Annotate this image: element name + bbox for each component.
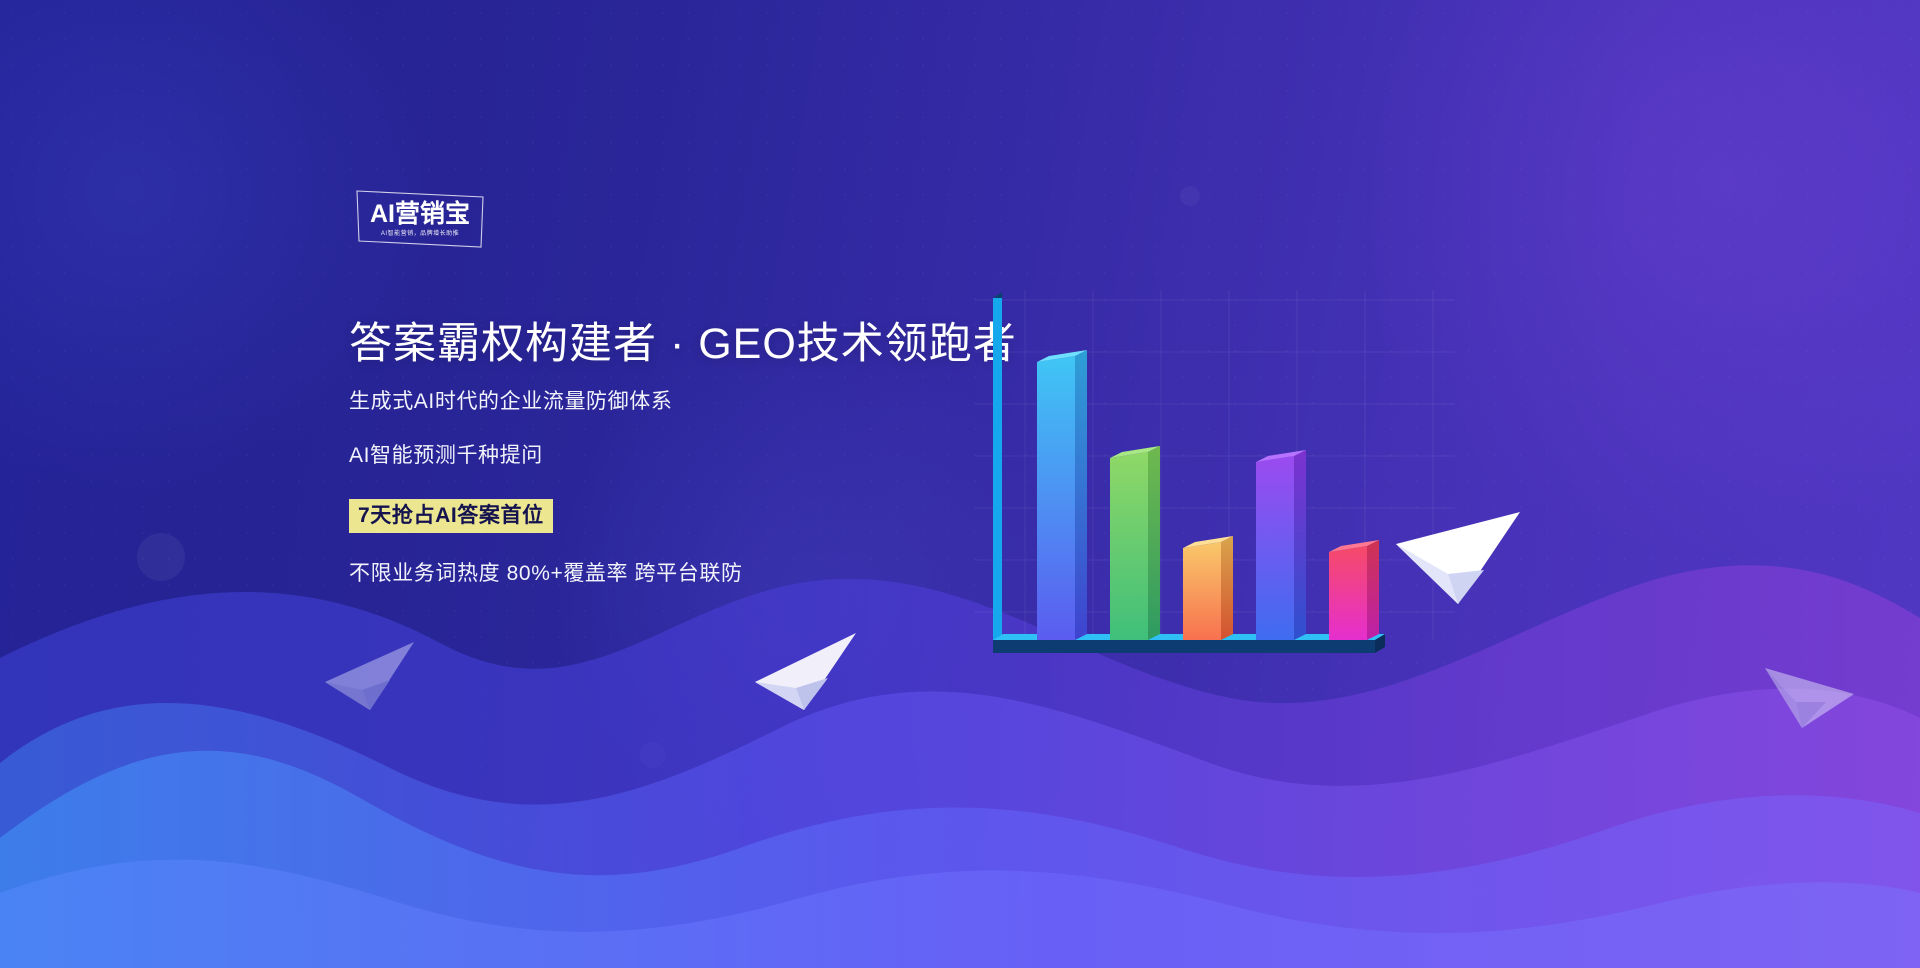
wave-layer-4 <box>0 860 1920 968</box>
chart-y-axis <box>993 292 1002 640</box>
chart-bar <box>1183 536 1233 640</box>
logo-wordmark: AI营销宝 <box>370 202 470 227</box>
page-title: 答案霸权构建者 · GEO技术领跑者 <box>349 320 1069 369</box>
bar-chart-illustration <box>975 290 1455 660</box>
hero-subline-4: 不限业务词热度 80%+覆盖率 跨平台联防 <box>349 563 1069 584</box>
wave-layer-3 <box>0 751 1920 968</box>
paper-plane-icon <box>1762 658 1860 734</box>
wave-layer-2 <box>0 689 1920 968</box>
hero-highlight-badge: 7天抢占AI答案首位 <box>349 499 553 533</box>
wave-layer-1 <box>0 565 1920 968</box>
paper-plane-icon <box>752 630 862 714</box>
hero-copy: 答案霸权构建者 · GEO技术领跑者 生成式AI时代的企业流量防御体系 AI智能… <box>349 320 1069 584</box>
hero-subline-2: AI智能预测千种提问 <box>349 445 1069 466</box>
hero-subline-1: 生成式AI时代的企业流量防御体系 <box>349 391 1069 412</box>
decor-circle <box>137 533 185 581</box>
chart-bar <box>1256 450 1306 640</box>
chart-bar <box>1110 446 1160 640</box>
chart-bar <box>1037 350 1087 640</box>
paper-plane-icon <box>322 638 420 714</box>
logo-tagline: AI智能营销，品牌增长助推 <box>381 231 459 237</box>
decor-circle <box>640 742 666 768</box>
hero-banner: AI营销宝 AI智能营销，品牌增长助推 答案霸权构建者 · GEO技术领跑者 生… <box>0 0 1920 968</box>
decor-circle <box>1738 872 1774 908</box>
chart-bar <box>1329 540 1379 640</box>
wave-decoration <box>0 548 1920 968</box>
decor-circle <box>1180 186 1200 206</box>
brand-logo[interactable]: AI营销宝 AI智能营销，品牌增长助推 <box>355 188 485 250</box>
